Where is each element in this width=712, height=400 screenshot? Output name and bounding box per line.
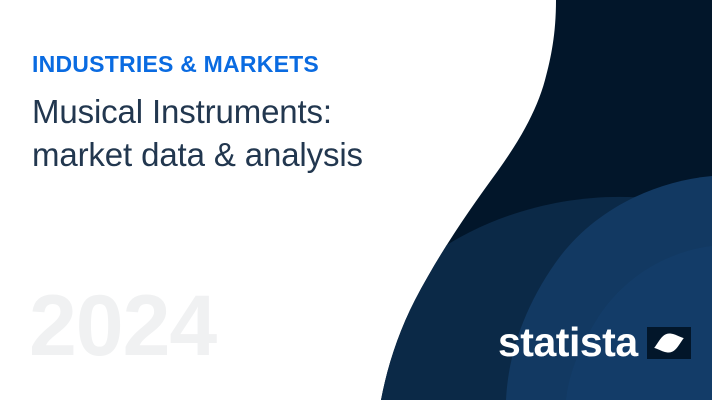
page-title-line-1: Musical Instruments:: [32, 91, 492, 134]
light-navy-blob: [506, 176, 712, 400]
eyebrow-category-label: INDUSTRIES & MARKETS: [32, 52, 492, 77]
statista-logo: statista: [498, 322, 691, 363]
statista-s-mark-icon: [647, 327, 691, 359]
page-title: Musical Instruments: market data & analy…: [32, 91, 492, 177]
statista-report-cover: INDUSTRIES & MARKETS Musical Instruments…: [0, 0, 712, 400]
mid-navy-blob: [330, 197, 712, 400]
statista-wordmark: statista: [498, 322, 638, 363]
cover-text-block: INDUSTRIES & MARKETS Musical Instruments…: [32, 52, 492, 177]
page-title-line-2: market data & analysis: [32, 134, 492, 177]
year-watermark: 2024: [29, 283, 216, 369]
